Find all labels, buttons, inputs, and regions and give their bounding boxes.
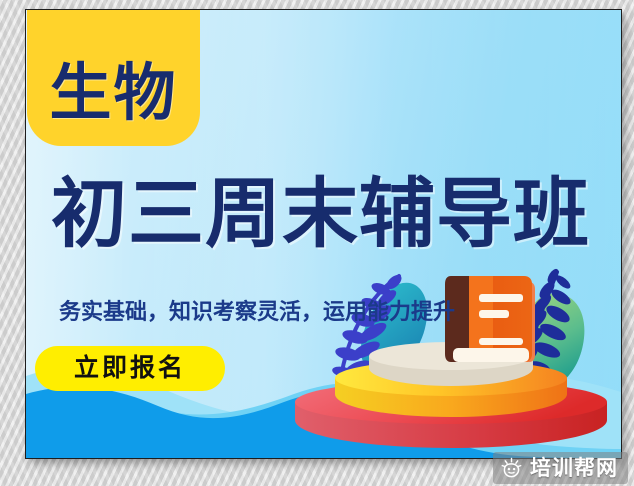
subtitle-text: 务实基础，知识考察灵活，运用能力提升 <box>26 302 492 324</box>
site-watermark-label: 培训帮网 <box>530 458 618 479</box>
subject-badge: 生物 <box>27 10 200 146</box>
sun-face-icon <box>500 457 523 480</box>
page-title: 初三周末辅导班 <box>26 176 618 252</box>
enroll-now-label: 立即报名 <box>74 356 186 381</box>
screenshot-frame: 生物 初三周末辅导班 务实基础，知识考察灵活，运用能力提升 立即报名 <box>0 0 634 486</box>
book-podium-illustration <box>281 242 621 458</box>
site-watermark: 培训帮网 <box>493 452 628 484</box>
course-promo-banner: 生物 初三周末辅导班 务实基础，知识考察灵活，运用能力提升 立即报名 <box>26 10 621 458</box>
subject-badge-text: 生物 <box>49 62 177 146</box>
enroll-now-button[interactable]: 立即报名 <box>35 346 225 391</box>
